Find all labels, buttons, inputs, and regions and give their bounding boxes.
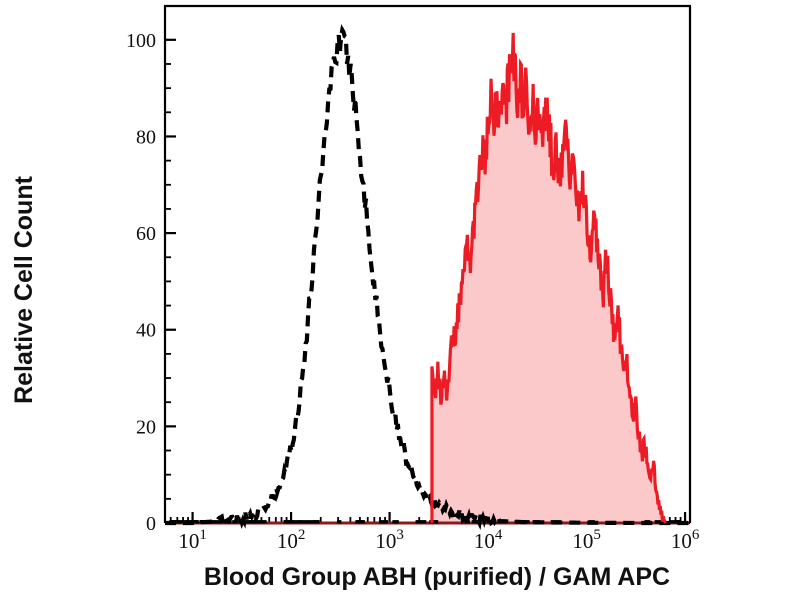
x-tick-label: 102	[277, 527, 306, 553]
y-axis-tick-labels: 020406080100	[126, 30, 156, 535]
y-tick-label: 40	[136, 320, 156, 342]
x-tick-label: 106	[671, 527, 700, 553]
y-tick-label: 20	[136, 416, 156, 438]
y-tick-label: 100	[126, 30, 156, 52]
x-axis-title: Blood Group ABH (purified) / GAM APC	[204, 563, 670, 591]
y-tick-label: 60	[136, 223, 156, 245]
histogram-plot: 020406080100 101102103104105106 Blood Gr…	[0, 0, 800, 600]
x-axis-tick-labels: 101102103104105106	[178, 527, 699, 553]
y-axis-ticks	[165, 40, 176, 523]
y-tick-label: 80	[136, 126, 156, 148]
y-axis-title: Relative Cell Count	[10, 175, 38, 403]
y-tick-label: 0	[146, 513, 156, 535]
x-tick-label: 104	[474, 527, 503, 553]
x-tick-label: 103	[375, 527, 404, 553]
flow-cytometry-figure: 020406080100 101102103104105106 Blood Gr…	[0, 0, 800, 600]
x-tick-label: 105	[572, 527, 601, 553]
x-tick-label: 101	[178, 527, 207, 553]
